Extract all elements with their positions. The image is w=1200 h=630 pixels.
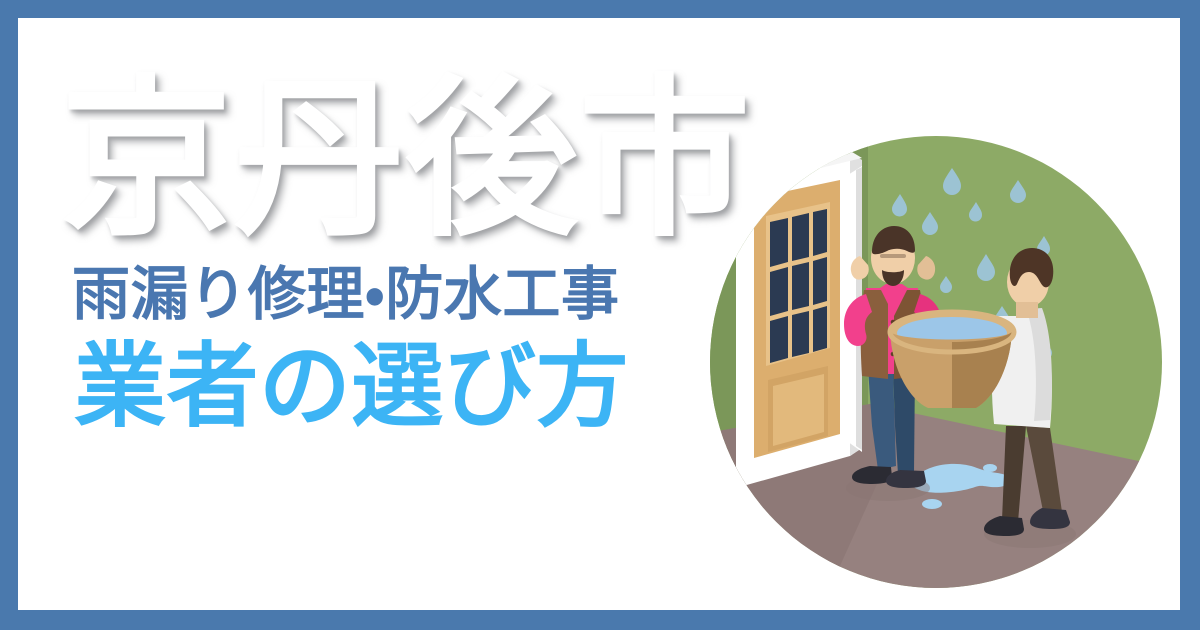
text-block: 京丹後市 雨漏り修理・防水工事 業者の選び方 — [60, 72, 820, 436]
poster-frame: 京丹後市 雨漏り修理・防水工事 業者の選び方 — [0, 0, 1200, 630]
page-title: 京丹後市 — [60, 72, 820, 247]
poster-canvas: 京丹後市 雨漏り修理・防水工事 業者の選び方 — [18, 18, 1180, 610]
man-frustrated — [844, 226, 942, 501]
page-headline: 業者の選び方 — [74, 339, 820, 436]
page-subtitle: 雨漏り修理・防水工事 — [72, 263, 820, 327]
water-puddle — [911, 464, 1010, 509]
falling-water-drops — [892, 168, 1052, 364]
man-with-bucket — [890, 248, 1076, 548]
water-bucket — [890, 312, 1014, 408]
